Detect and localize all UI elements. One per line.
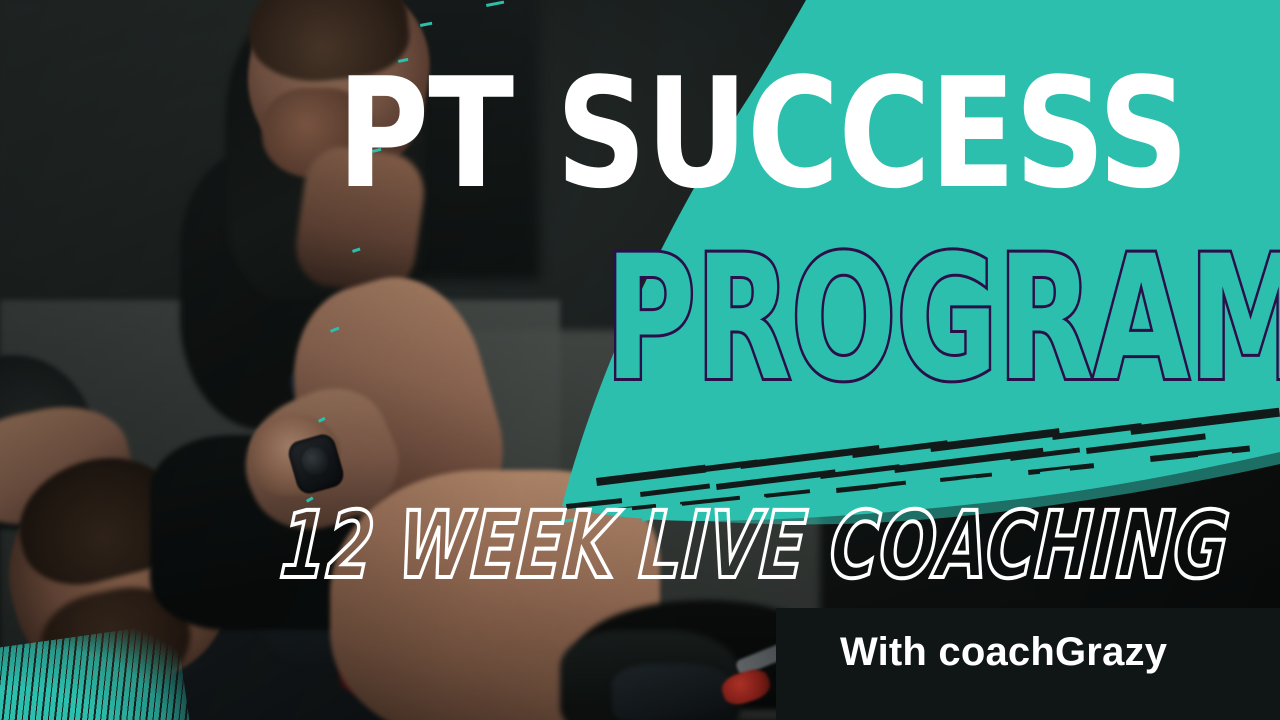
title-line-1: PT SUCCESS <box>337 45 1188 222</box>
page-title: PT SUCCESS <box>337 62 1147 206</box>
subtitle: 12 WEEK LIVE COACHING <box>278 500 1233 592</box>
title-line-2: PROGRAM <box>605 240 1280 398</box>
thumbnail-canvas: PT SUCCESS PROGRAM 12 WEEK LIVE COACHING… <box>0 0 1280 720</box>
byline: With coachGrazy <box>840 630 1167 675</box>
